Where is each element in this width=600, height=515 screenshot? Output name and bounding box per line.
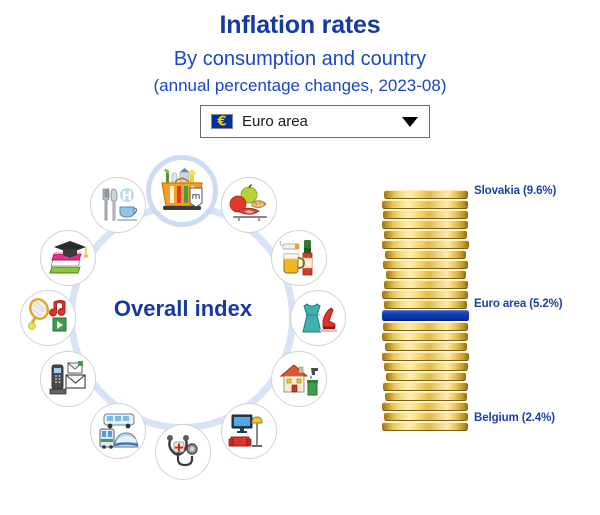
coin-slice bbox=[382, 200, 468, 209]
page-subtitle: By consumption and country bbox=[0, 48, 600, 71]
coin-slice bbox=[382, 332, 468, 341]
wheel-item-communications[interactable] bbox=[40, 351, 96, 407]
wheel-item-overall-basket[interactable]: m bbox=[146, 155, 218, 227]
coin-slice bbox=[386, 270, 466, 279]
wheel-item-furnishings-household[interactable] bbox=[221, 403, 277, 459]
coin-stack bbox=[382, 190, 470, 432]
coin-slice-euro-area bbox=[382, 310, 469, 321]
coin-slice bbox=[382, 352, 469, 361]
health-stethoscope-icon bbox=[161, 430, 205, 474]
coin-slice bbox=[384, 230, 467, 239]
coin-slice bbox=[382, 422, 468, 431]
wheel-item-housing-utilities[interactable] bbox=[271, 351, 327, 407]
transport-icon bbox=[96, 409, 140, 453]
coin-slice bbox=[382, 240, 469, 249]
wheel-item-health[interactable] bbox=[155, 424, 211, 480]
coin-slice bbox=[385, 250, 466, 259]
wheel-item-education[interactable] bbox=[40, 230, 96, 286]
coin-slice bbox=[383, 260, 468, 269]
coin-slice bbox=[382, 220, 468, 229]
chart-label-min: Belgium (2.4%) bbox=[474, 412, 555, 424]
communications-icon bbox=[46, 357, 90, 401]
svg-text:H: H bbox=[122, 189, 132, 203]
coin-stack-chart: Slovakia (9.6%) Euro area (5.2%) Belgium… bbox=[378, 180, 600, 450]
page-header: Inflation rates By consumption and count… bbox=[0, 0, 600, 96]
furnishings-household-icon bbox=[227, 409, 271, 453]
chart-label-max: Slovakia (9.6%) bbox=[474, 185, 556, 197]
restaurants-hotels-icon: H bbox=[96, 183, 140, 227]
coin-slice bbox=[383, 322, 468, 331]
chart-label-euro-area: Euro area (5.2%) bbox=[474, 298, 563, 310]
coin-slice bbox=[385, 342, 467, 351]
coin-slice bbox=[386, 372, 466, 381]
coin-slice bbox=[384, 300, 467, 309]
coin-slice bbox=[384, 280, 468, 289]
euro-symbol: € bbox=[212, 115, 232, 128]
page-subtitle-secondary: (annual percentage changes, 2023-08) bbox=[0, 76, 600, 96]
food-icon bbox=[227, 183, 271, 227]
coin-slice bbox=[383, 210, 468, 219]
housing-utilities-icon bbox=[277, 357, 321, 401]
coin-slice bbox=[385, 392, 467, 401]
coin-slice bbox=[384, 190, 468, 199]
coin-slice bbox=[384, 412, 468, 421]
wheel-center-label: Overall index bbox=[18, 296, 348, 322]
wheel-item-alcohol-tobacco[interactable] bbox=[271, 230, 327, 286]
eu-flag-icon: € bbox=[211, 114, 233, 129]
svg-text:m: m bbox=[192, 192, 201, 202]
chevron-down-icon[interactable] bbox=[402, 117, 418, 127]
country-selector-dropdown[interactable]: € Euro area bbox=[200, 105, 430, 138]
education-icon bbox=[46, 236, 90, 280]
wheel-item-restaurants-hotels[interactable]: H bbox=[90, 177, 146, 233]
coin-slice bbox=[382, 290, 468, 299]
wheel-item-transport[interactable] bbox=[90, 403, 146, 459]
page-title: Inflation rates bbox=[0, 11, 600, 40]
coin-slice bbox=[383, 382, 468, 391]
coin-slice bbox=[382, 402, 468, 411]
shopping-basket-icon: m bbox=[157, 166, 207, 216]
alcohol-tobacco-icon bbox=[277, 236, 321, 280]
coin-slice bbox=[384, 362, 468, 371]
wheel-item-food[interactable] bbox=[221, 177, 277, 233]
country-selector-value: Euro area bbox=[242, 113, 402, 130]
consumption-category-wheel: Overall index m bbox=[18, 148, 348, 488]
